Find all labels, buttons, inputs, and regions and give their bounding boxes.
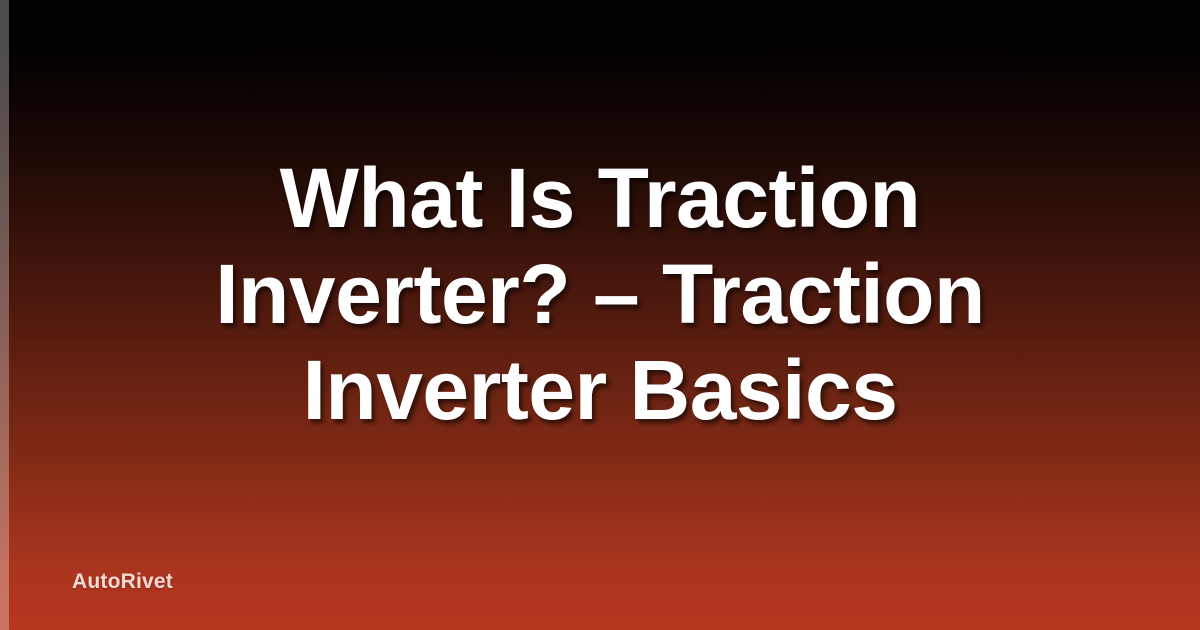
page-title: What Is Traction Inverter? – Traction In… — [95, 150, 1105, 438]
title-container: What Is Traction Inverter? – Traction In… — [0, 150, 1200, 438]
social-share-card: What Is Traction Inverter? – Traction In… — [0, 0, 1200, 630]
card-content: What Is Traction Inverter? – Traction In… — [0, 0, 1200, 630]
brand-wordmark: AutoRivet — [72, 570, 173, 594]
